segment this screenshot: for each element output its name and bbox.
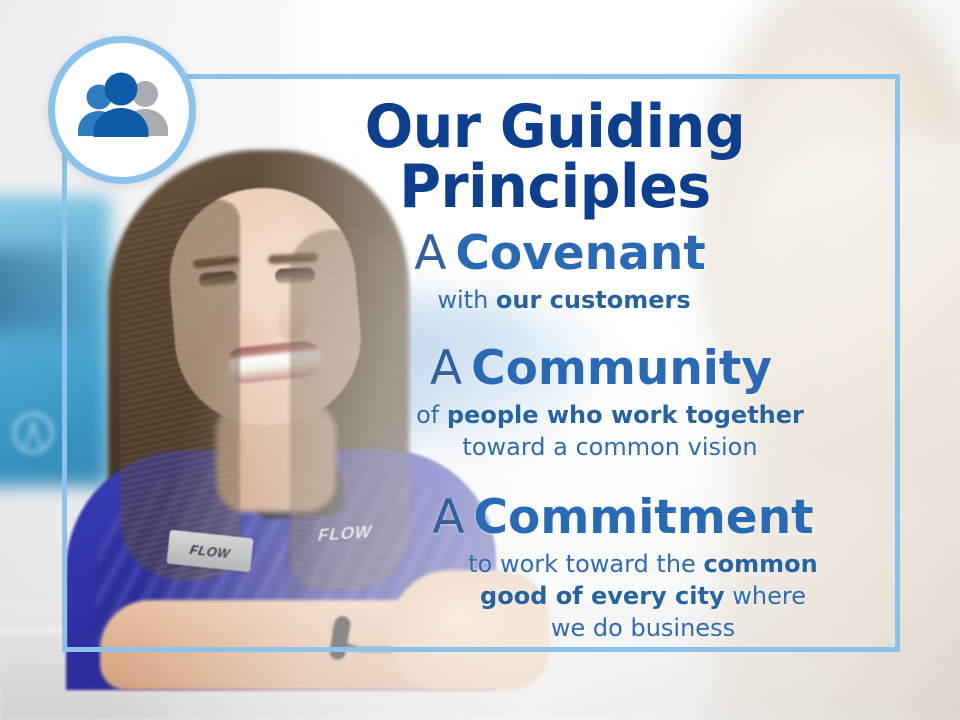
principle-subtext: of people who work togethertoward a comm…	[210, 399, 900, 463]
principle-subtext: to work toward the commongood of every c…	[210, 548, 900, 644]
principle-community: ACommunity of people who work togetherto…	[210, 344, 900, 463]
principle-heading: ACommitment	[210, 493, 900, 543]
emphasis-text: good of every city	[480, 582, 725, 610]
principle-keyword: Commitment	[474, 490, 814, 545]
emphasis-text: people who work together	[447, 401, 804, 429]
principle-commitment: ACommitment to work toward the commongoo…	[210, 493, 900, 644]
principle-heading: ACovenant	[210, 229, 900, 279]
emphasis-text: common	[703, 550, 817, 578]
principle-heading: ACommunity	[210, 344, 900, 394]
principle-article: A	[414, 226, 455, 281]
people-group-icon	[70, 71, 174, 149]
principle-article: A	[432, 490, 473, 545]
principle-keyword: Covenant	[455, 226, 705, 281]
principle-article: A	[430, 341, 471, 396]
plain-text: where	[725, 582, 806, 610]
guiding-principles-graphic: FLOW FLOW Our Guiding	[0, 0, 960, 720]
page-title: Our Guiding Principles	[227, 97, 883, 217]
plain-text: to work toward the	[468, 550, 703, 578]
principle-covenant: ACovenant with our customers	[210, 229, 900, 316]
emphasis-text: our customers	[496, 286, 691, 314]
principles-content: Our Guiding Principles ACovenant with ou…	[210, 84, 900, 644]
principle-subtext: with our customers	[210, 284, 900, 316]
plain-text: of	[416, 401, 447, 429]
principle-keyword: Community	[471, 341, 772, 396]
people-group-badge	[48, 36, 196, 184]
plain-text: toward a common vision	[462, 433, 757, 461]
plain-text: with	[437, 286, 496, 314]
plain-text: we do business	[551, 614, 735, 642]
